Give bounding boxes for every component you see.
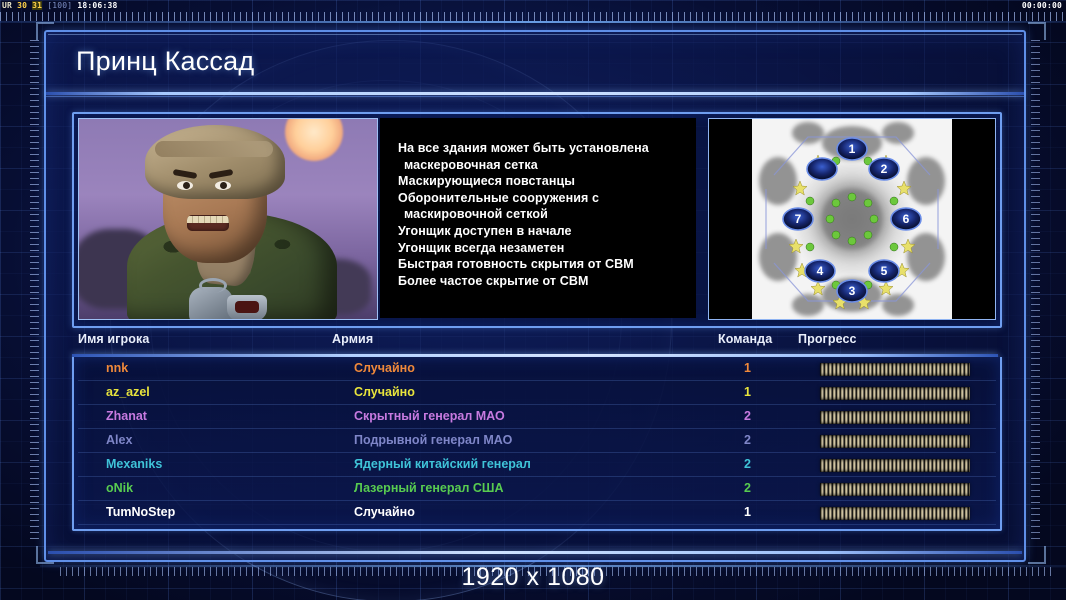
- table-row[interactable]: TumNoStepСлучайно1: [74, 501, 1000, 525]
- player-army: Случайно: [354, 385, 415, 399]
- debug-stats: UR 30 31 [100] 18:06:38: [2, 0, 118, 12]
- fps-label: UR: [2, 1, 12, 10]
- player-progress-bar: [820, 483, 970, 496]
- title-divider-shadow: [46, 96, 1024, 97]
- player-army: Ядерный китайский генерал: [354, 457, 531, 471]
- player-army: Подрывной генерал МАО: [354, 433, 512, 447]
- player-army: Случайно: [354, 505, 415, 519]
- panel-bottom-divider: [48, 551, 1022, 554]
- description-line: Угонщик всегда незаметен: [398, 240, 690, 257]
- player-name: TumNoStep: [106, 505, 175, 519]
- player-team: 2: [744, 481, 751, 495]
- player-army: Скрытный генерал МАО: [354, 409, 505, 423]
- general-portrait: [78, 118, 378, 320]
- bracket-value: [100]: [47, 1, 72, 10]
- table-row[interactable]: AlexПодрывной генерал МАО2: [74, 429, 1000, 453]
- resolution-caption: 1920 x 1080: [0, 563, 1066, 592]
- portrait-cup: [227, 295, 267, 320]
- debug-status-bar: UR 30 31 [100] 18:06:38 00:00:00: [0, 0, 1066, 12]
- description-line: Угонщик доступен в начале: [398, 223, 690, 240]
- player-name: az_azel: [106, 385, 150, 399]
- roster-column-headers: Имя игрока Армия Команда Прогресс: [78, 332, 998, 352]
- portrait-pupil-left: [183, 182, 190, 189]
- column-header-player: Имя игрока: [78, 332, 149, 346]
- player-progress-bar: [820, 459, 970, 472]
- player-name: Mexaniks: [106, 457, 162, 471]
- description-line: маскировочной сеткой: [398, 206, 690, 223]
- player-team: 1: [744, 361, 751, 375]
- portrait-pupil-right: [220, 182, 227, 189]
- table-row[interactable]: MexaniksЯдерный китайский генерал2: [74, 453, 1000, 477]
- map-start-2: 2: [881, 162, 888, 176]
- description-line: Быстрая готовность скрытия от СВМ: [398, 256, 690, 273]
- player-team: 1: [744, 385, 751, 399]
- player-army: Лазерный генерал США: [354, 481, 503, 495]
- player-team: 2: [744, 433, 751, 447]
- description-line: Более частое скрытие от СВМ: [398, 273, 690, 290]
- map-start-3: 3: [849, 284, 856, 298]
- map-start-7: 7: [795, 212, 802, 226]
- table-row[interactable]: nnkСлучайно1: [74, 357, 1000, 381]
- player-team: 1: [744, 505, 751, 519]
- session-time: 18:06:38: [77, 1, 117, 10]
- description-lines: На все здания может быть установлена мас…: [398, 140, 690, 289]
- player-name: Alex: [106, 433, 132, 447]
- player-progress-bar: [820, 387, 970, 400]
- corner-bracket-top-right: [1028, 22, 1046, 40]
- player-progress-bar: [820, 435, 970, 448]
- map-preview[interactable]: 1 2 3 4 5 6 7: [708, 118, 996, 320]
- player-army: Случайно: [354, 361, 415, 375]
- column-header-army: Армия: [332, 332, 373, 346]
- player-name: Zhanat: [106, 409, 147, 423]
- title-divider: [46, 92, 1024, 95]
- map-start-5: 5: [881, 264, 888, 278]
- briefing-panel: Принц Кассад: [44, 30, 1026, 562]
- fps-value: 30: [17, 1, 27, 10]
- frame-value: 31: [32, 1, 42, 10]
- panel-highlight: [48, 34, 1022, 35]
- column-header-progress: Прогресс: [798, 332, 857, 346]
- description-line: Маскирующиеся повстанцы: [398, 173, 690, 190]
- player-progress-bar: [820, 411, 970, 424]
- corner-bracket-bottom-left: [36, 546, 54, 564]
- map-start-4: 4: [817, 264, 824, 278]
- portrait-mouth: [187, 215, 229, 231]
- player-team: 2: [744, 457, 751, 471]
- player-team: 2: [744, 409, 751, 423]
- table-row[interactable]: oNikЛазерный генерал США2: [74, 477, 1000, 501]
- portrait-teeth: [187, 216, 229, 223]
- map-start-1: 1: [849, 142, 856, 156]
- portrait-headwrap: [145, 125, 285, 199]
- table-row[interactable]: ZhanatСкрытный генерал МАО2: [74, 405, 1000, 429]
- player-progress-bar: [820, 363, 970, 376]
- game-clock: 00:00:00: [1022, 0, 1062, 12]
- player-roster: nnkСлучайно1az_azelСлучайно1ZhanatСкрытн…: [72, 357, 1002, 531]
- page-title: Принц Кассад: [76, 46, 254, 77]
- corner-bracket-top-left: [36, 22, 54, 40]
- column-header-team: Команда: [718, 332, 772, 346]
- player-progress-bar: [820, 507, 970, 520]
- description-line: маскеровочная сетка: [398, 157, 690, 174]
- map-start-6: 6: [903, 212, 910, 226]
- player-name: nnk: [106, 361, 128, 375]
- map-preview-image: 1 2 3 4 5 6 7: [752, 119, 952, 319]
- row-separator: [78, 524, 996, 525]
- corner-bracket-bottom-right: [1028, 546, 1046, 564]
- description-line: На все здания может быть установлена: [398, 140, 690, 157]
- description-line: Оборонительные сооружения с: [398, 190, 690, 207]
- general-description: На все здания может быть установлена мас…: [380, 118, 696, 318]
- general-info-row: На все здания может быть установлена мас…: [72, 112, 1002, 328]
- player-name: oNik: [106, 481, 133, 495]
- table-row[interactable]: az_azelСлучайно1: [74, 381, 1000, 405]
